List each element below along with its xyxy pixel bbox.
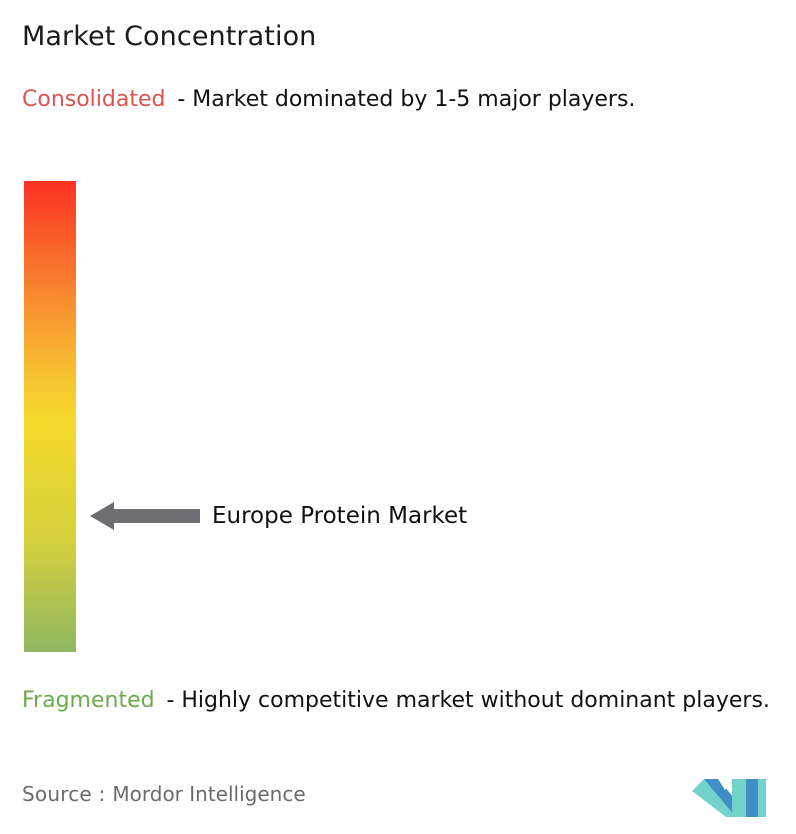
consolidated-keyword: Consolidated — [22, 87, 165, 112]
fragmented-keyword: Fragmented — [22, 688, 155, 713]
consolidated-description: - Market dominated by 1-5 major players. — [177, 87, 635, 112]
fragmented-description: - Highly competitive market without domi… — [166, 688, 769, 713]
source-value: Mordor Intelligence — [112, 782, 305, 806]
mordor-intelligence-logo — [692, 775, 770, 821]
market-pointer-label: Europe Protein Market — [212, 502, 467, 530]
consolidated-caption: Consolidated - Market dominated by 1-5 m… — [22, 84, 782, 116]
source-label: Source : — [22, 782, 105, 806]
source-line: Source :Mordor Intelligence — [22, 781, 306, 807]
concentration-gradient-bar — [24, 181, 76, 652]
footer: Source :Mordor Intelligence — [0, 772, 796, 834]
arrow-left-icon — [90, 498, 200, 534]
fragmented-caption: Fragmented - Highly competitive market w… — [22, 685, 794, 717]
market-pointer: Europe Protein Market — [90, 498, 467, 534]
page-title: Market Concentration — [22, 20, 316, 54]
